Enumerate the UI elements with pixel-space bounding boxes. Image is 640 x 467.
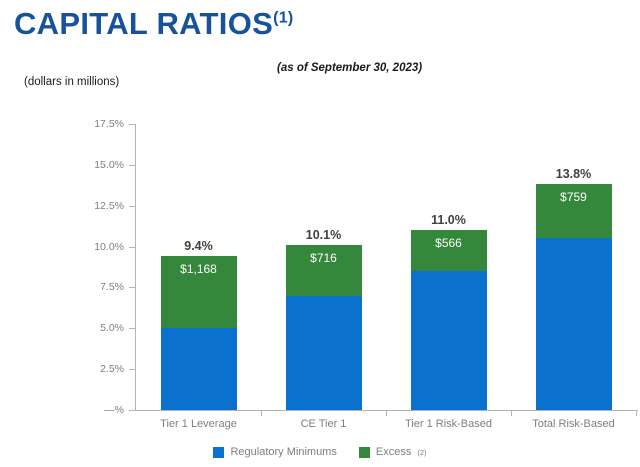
x-axis-tick-mark [261,410,262,416]
y-axis-tick-label: 10.0% [80,241,124,252]
bar-segment-regulatory-minimums[interactable] [536,238,612,410]
x-axis-tick-mark [386,410,387,416]
plot-area: $1,1689.4%$71610.1%$56611.0%$75913.8% [136,124,636,410]
bar-segment-regulatory-minimums[interactable] [411,271,487,410]
x-axis-category-label: CE Tier 1 [261,418,386,430]
bar-group[interactable]: $1,1689.4% [161,256,237,410]
x-axis-line [136,410,638,411]
y-axis-tick-label: 5.0% [80,323,124,334]
legend-swatch-icon [213,447,224,458]
y-axis-tick-label: —% [80,405,124,416]
x-axis-tick-mark [511,410,512,416]
bar-group[interactable]: $56611.0% [411,230,487,410]
legend-item[interactable]: Regulatory Minimums [213,446,336,458]
bar-group[interactable]: $75913.8% [536,184,612,410]
units-note: (dollars in millions) [24,76,119,88]
bar-segment-excess[interactable]: $759 [536,184,612,238]
y-axis-tick-label: 15.0% [80,160,124,171]
bar-total-label: 11.0% [411,213,487,227]
bar-segment-value-label: $566 [411,236,487,250]
page-title: CAPITAL RATIOS(1) [14,6,294,42]
bar-segment-value-label: $716 [286,251,362,265]
y-axis-tick-label: 2.5% [80,364,124,375]
bar-total-label: 13.8% [536,167,612,181]
bar-segment-excess[interactable]: $566 [411,230,487,271]
as-of-note: (as of September 30, 2023) [277,62,422,74]
page-title-text: CAPITAL RATIOS [14,6,273,41]
x-axis-tick-mark [636,410,637,416]
x-axis-category-label: Tier 1 Leverage [136,418,261,430]
bar-segment-excess[interactable]: $716 [286,245,362,296]
bar-segment-excess[interactable]: $1,168 [161,256,237,328]
legend-label-superscript: (2) [417,448,426,457]
page-title-superscript: (1) [273,10,293,27]
y-axis-tick-label: 7.5% [80,282,124,293]
legend-label: Excess [376,446,411,458]
x-axis-category-label: Tier 1 Risk-Based [386,418,511,430]
bar-total-label: 9.4% [161,239,237,253]
bar-segment-value-label: $1,168 [161,262,237,276]
y-axis-tick-label: 12.5% [80,200,124,211]
capital-ratios-chart: —%2.5%5.0%7.5%10.0%12.5%15.0%17.5% $1,16… [0,110,640,467]
bar-total-label: 10.1% [286,228,362,242]
y-axis-tick-label: 17.5% [80,119,124,130]
y-axis-tick-labels: —%2.5%5.0%7.5%10.0%12.5%15.0%17.5% [78,110,124,467]
bar-segment-regulatory-minimums[interactable] [161,328,237,410]
bar-group[interactable]: $71610.1% [286,245,362,410]
legend-label: Regulatory Minimums [230,446,336,458]
bar-segment-value-label: $759 [536,190,612,204]
legend-swatch-icon [359,447,370,458]
x-axis-category-label: Total Risk-Based [511,418,636,430]
chart-legend: Regulatory MinimumsExcess(2) [0,446,640,458]
bar-segment-regulatory-minimums[interactable] [286,296,362,410]
legend-item[interactable]: Excess(2) [359,446,427,458]
